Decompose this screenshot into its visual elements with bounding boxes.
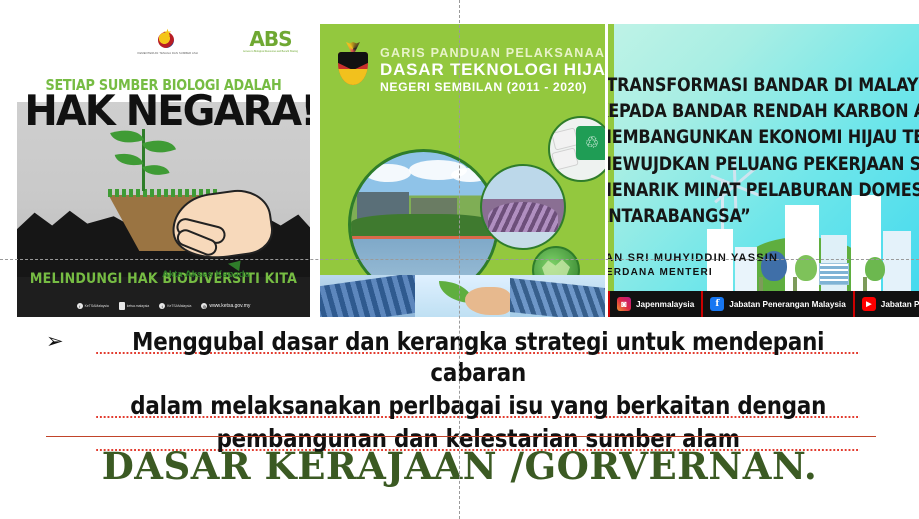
quote-line: MEWUJDKAN PELUANG PEKERJAAN SERTA bbox=[608, 151, 906, 177]
quote-line: MENARIK MINAT PELABURAN DOMESTIK DAN bbox=[608, 177, 906, 203]
facebook-icon: f bbox=[710, 297, 724, 311]
quote-text: “TRANSFORMASI BANDAR DI MALAYSIA KEPADA … bbox=[608, 72, 906, 229]
abs-headline: HAK NEGARA! bbox=[24, 86, 302, 135]
website-url: www.ketsa.gov.my bbox=[209, 303, 250, 309]
solar-array-photo bbox=[510, 275, 605, 317]
green-poster-title-line3: NEGERI SEMBILAN (2011 - 2020) bbox=[380, 80, 587, 94]
youtube-icon: ▶ bbox=[862, 297, 876, 311]
social-handle: Jabatan Penerangan Malaysia bbox=[729, 300, 846, 309]
social-item: f Jabatan Penerangan Malaysia bbox=[703, 291, 855, 317]
social-handle: Japenmalaysia bbox=[636, 300, 694, 309]
abs-logo-subtext: Access to Biological Resources and Benef… bbox=[243, 50, 298, 53]
leaf-icon bbox=[141, 133, 175, 159]
facebook-icon: f bbox=[77, 303, 83, 309]
body-line: Menggubal dasar dan kerangka strategi un… bbox=[96, 326, 860, 390]
building-icon bbox=[883, 231, 911, 291]
quote-line: MEMBANGUNKAN EKONOMI HIJAU TEMPATAN, bbox=[608, 124, 906, 150]
slide-headline: DASAR KERAJAAN /GORVERNAN. bbox=[0, 444, 919, 488]
social-item: ◙ Japenmalaysia bbox=[608, 291, 703, 317]
social-item: t KeTSAMalaysia bbox=[159, 303, 191, 309]
social-item: ◍ www.ketsa.gov.my bbox=[201, 303, 250, 309]
green-poster-title-line1: GARIS PANDUAN PELAKSANAAN bbox=[380, 46, 605, 60]
leaf-icon bbox=[142, 160, 169, 181]
ministry-caption: KEMENTERIAN TENAGA DAN SUMBER ASLI bbox=[122, 52, 214, 55]
twitter-icon: t bbox=[159, 303, 165, 309]
abs-logo-text: ABS bbox=[243, 29, 298, 49]
quote-line: “TRANSFORMASI BANDAR DI MALAYSIA bbox=[608, 72, 906, 98]
solar-panel-icon bbox=[819, 263, 849, 285]
instagram-icon bbox=[119, 302, 125, 310]
social-handle: KeTSAMalaysia bbox=[85, 304, 109, 308]
slide-canvas: ★ KEMENTERIAN TENAGA DAN SUMBER ASLI ABS… bbox=[0, 0, 919, 519]
social-item: ▶ Jabatan Penerangan bbox=[855, 291, 919, 317]
poster-abs-hak-negara: ★ KEMENTERIAN TENAGA DAN SUMBER ASLI ABS… bbox=[17, 24, 310, 317]
quote-attribution-role: PERDANA MENTERI bbox=[608, 267, 713, 278]
body-line: dalam melaksanakan perlbagai isu yang be… bbox=[96, 390, 860, 423]
social-item: f KeTSAMalaysia bbox=[77, 303, 109, 309]
abs-logo: ABS Access to Biological Resources and B… bbox=[243, 29, 298, 53]
bullet-arrow-icon: ➢ bbox=[46, 326, 64, 356]
solar-dome-circle-photo bbox=[480, 164, 566, 250]
instagram-icon: ◙ bbox=[617, 297, 631, 311]
social-handle: KeTSAMalaysia bbox=[167, 304, 191, 308]
malaysia-ministry-crest-icon: ★ bbox=[154, 29, 180, 51]
recycle-circle-photo: ♲ bbox=[548, 116, 605, 182]
social-item: ketsa.malaysia bbox=[119, 302, 149, 310]
abs-social-row: f KeTSAMalaysia ketsa.malaysia t KeTSAMa… bbox=[17, 302, 310, 310]
quote-line: KEPADA BANDAR RENDAH KARBON AKAN bbox=[608, 98, 906, 124]
green-poster-bottom-strip bbox=[320, 275, 605, 317]
quote-line: ANTARABANGSA” bbox=[608, 203, 906, 229]
globe-icon: ◍ bbox=[201, 303, 207, 309]
poster-garis-panduan: GARIS PANDUAN PELAKSANAAN DASAR TEKNOLOG… bbox=[320, 24, 605, 317]
leaf-icon bbox=[114, 149, 143, 169]
solar-panel-photo bbox=[320, 275, 415, 317]
abs-act-text: Akta Akses Kepada Sumber Biologi Dan Per… bbox=[162, 270, 277, 277]
green-poster-title-line2: DASAR TEKNOLOGI HIJAU bbox=[380, 60, 605, 80]
social-handle: ketsa.malaysia bbox=[127, 304, 149, 308]
negeri-sembilan-crest-icon bbox=[334, 42, 372, 90]
act-line-1: Akta Akses Kepada bbox=[162, 270, 277, 277]
quote-attribution-name: TAN SRI MUHYIDDIN YASSIN bbox=[608, 252, 778, 264]
social-handle: Jabatan Penerangan bbox=[881, 300, 919, 309]
horizontal-divider bbox=[46, 436, 876, 437]
japen-social-bar: ◙ Japenmalaysia f Jabatan Penerangan Mal… bbox=[608, 291, 919, 317]
poster-muhyiddin-quote: “TRANSFORMASI BANDAR DI MALAYSIA KEPADA … bbox=[608, 24, 919, 317]
seedling-hand-photo bbox=[415, 275, 510, 317]
recycle-icon: ♲ bbox=[576, 126, 605, 160]
poster-abs-footer: MELINDUNGI HAK BIODIVERSITI KITA f KeTSA… bbox=[17, 277, 310, 317]
